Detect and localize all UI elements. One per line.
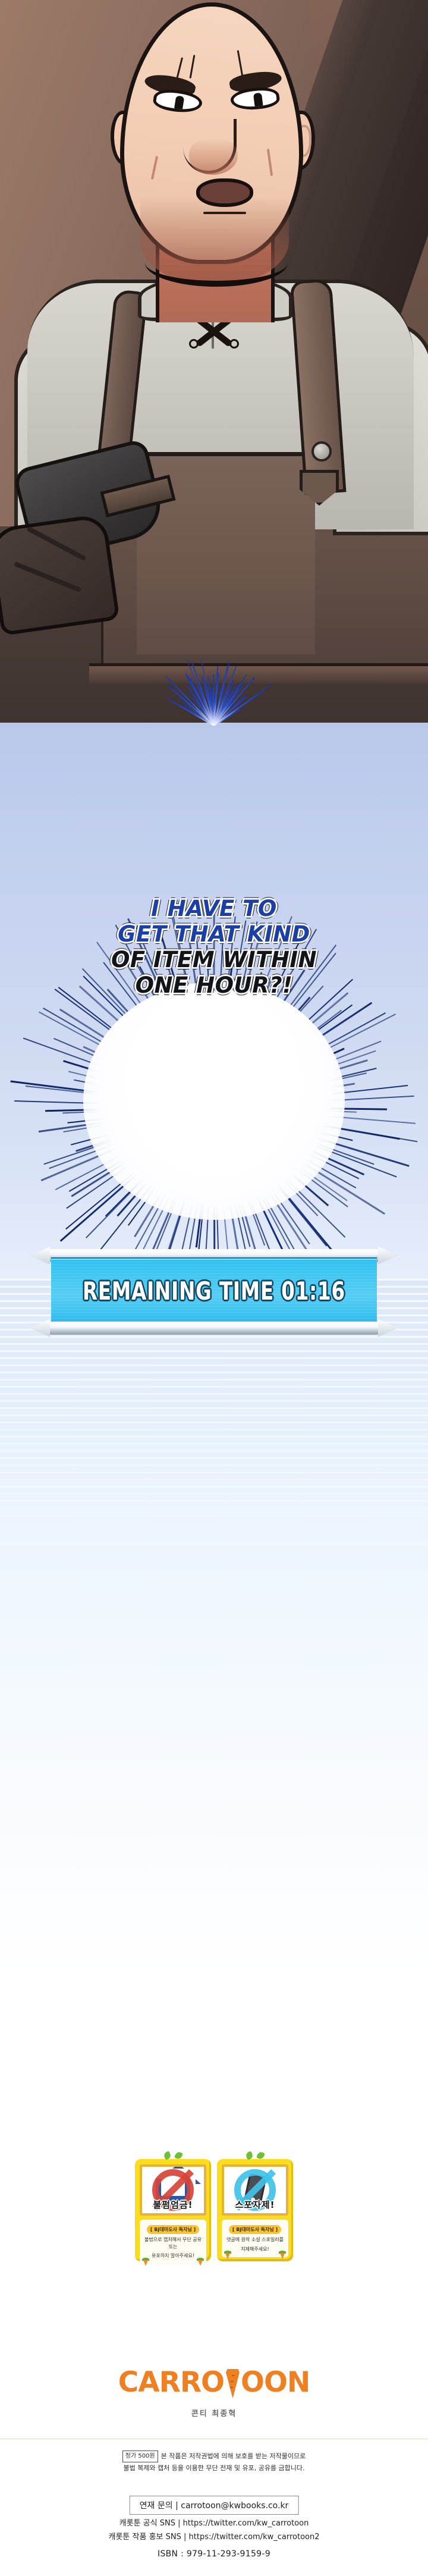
burst-core-glow — [83, 982, 345, 1220]
notice-line-1: 불법으로 캡처해서 무단 공유 또는 — [143, 2236, 203, 2250]
carrot-icon — [279, 2251, 286, 2259]
notice-text-block: [ BJ대마도사 독자님 ] 댓글에 원작 소설 스포일러를 지제해주세요! — [222, 2220, 288, 2257]
notice-line-2: 지제해주세요! — [225, 2246, 285, 2253]
notice-tag: [ BJ대마도사 독자님 ] — [147, 2225, 199, 2234]
panel-remaining-time — [0, 1279, 428, 2040]
panel-shock-burst — [0, 723, 428, 1279]
banner-arrow-left-icon — [30, 1319, 50, 1337]
panel-blacksmith-closeup — [0, 0, 428, 723]
price-badge: 정가 500원 — [122, 2451, 158, 2462]
logo-suffix: OON — [241, 2366, 310, 2399]
sns-official-link[interactable]: 캐롯툰 공식 SNS | https://twitter.com/kw_carr… — [109, 2517, 320, 2531]
copyright-line-1: 본 작품은 저작권법에 의해 보호를 받는 저작물이므로 — [161, 2452, 306, 2460]
speech-line: OF ITEM WITHIN — [48, 947, 380, 973]
isbn-label: ISBN : 979-11-293-9159-9 — [158, 2549, 270, 2559]
carrotoon-logo: CARRO OON 콘티 최종혁 — [118, 2366, 310, 2418]
storyboard-credit: 콘티 최종혁 — [118, 2407, 310, 2418]
notice-card-no-copy: 불펌엄금! [ BJ대마도사 독자님 ] 불법으로 캡처해서 무단 공유 또는 … — [135, 2159, 211, 2261]
notice-card-no-spoiler: 스포자제! [ BJ대마도사 독자님 ] 댓글에 원작 소설 스포일러를 지제해… — [217, 2159, 293, 2261]
right-pupil — [253, 93, 263, 109]
banner-arrow-right-icon — [378, 1319, 398, 1337]
notice-tag: [ BJ대마도사 독자님 ] — [229, 2225, 281, 2234]
sns-links: 캐롯툰 공식 SNS | https://twitter.com/kw_carr… — [109, 2517, 320, 2544]
contact-box[interactable]: 연재 문의 | carrotoon@kwbooks.co.kr — [130, 2496, 299, 2515]
notice-cards: 불펌엄금! [ BJ대마도사 독자님 ] 불법으로 캡처해서 무단 공유 또는 … — [135, 2159, 293, 2261]
banner-arrow-right-icon — [378, 1247, 398, 1265]
carrot-sprout-icon — [246, 2152, 264, 2161]
carrot-icon — [224, 2251, 231, 2259]
sns-promo-link[interactable]: 캐롯툰 작품 홍보 SNS | https://twitter.com/kw_c… — [109, 2531, 320, 2544]
speech-line: I HAVE TO — [48, 896, 380, 922]
copyright-notice: 정가 500원본 작품은 저작권법에 의해 보호를 받는 저작물이므로 불법 복… — [18, 2451, 410, 2474]
notice-line-2: 유포하지 말아주세요! — [143, 2252, 203, 2260]
carrot-icon — [197, 2258, 204, 2266]
logo-text: CARRO OON — [118, 2366, 310, 2399]
impact-spark — [119, 648, 309, 726]
no-spoiler-phone-icon: 스포자제! — [222, 2164, 288, 2216]
copyright-line-2: 불법 복제와 캡처 등을 이용한 무단 전재 및 유포, 공유를 금합니다. — [18, 2462, 410, 2474]
chin-outline — [145, 239, 288, 287]
remaining-time-banner: REMAINING TIME 01:16 — [0, 1244, 428, 1345]
no-copy-icon: 불펌엄금! — [140, 2164, 206, 2216]
speech-balloon-text: I HAVE TO GET THAT KIND OF ITEM WITHIN O… — [48, 896, 380, 999]
banner-rail-bottom — [46, 1322, 382, 1335]
carrot-sprout-icon — [164, 2152, 182, 2161]
webtoon-page: I HAVE TO GET THAT KIND OF ITEM WITHIN O… — [0, 0, 428, 2576]
notice-image-label: 스포자제! — [224, 2198, 286, 2211]
lower-lip-line — [203, 212, 246, 214]
carrot-icon — [224, 2367, 241, 2399]
logo-prefix: CARRO — [118, 2366, 224, 2399]
carrot-icon — [142, 2258, 149, 2266]
gloved-hand — [0, 513, 120, 636]
apron-rivet — [311, 441, 332, 462]
banner-arrow-left-icon — [30, 1247, 50, 1265]
speech-line: GET THAT KIND — [48, 922, 380, 947]
notice-text-block: [ BJ대마도사 독자님 ] 불법으로 캡처해서 무단 공유 또는 유포하지 말… — [140, 2220, 206, 2264]
notice-line-1: 댓글에 원작 소설 스포일러를 — [225, 2236, 285, 2244]
speech-line: ONE HOUR?! — [48, 973, 380, 999]
remaining-time-label: REMAINING TIME 01:16 — [83, 1276, 345, 1306]
banner-body: REMAINING TIME 01:16 — [51, 1257, 377, 1324]
footer-divider — [0, 2439, 428, 2439]
left-pupil — [174, 95, 184, 112]
notice-image-label: 불펌엄금! — [142, 2198, 204, 2211]
open-mouth — [196, 178, 253, 207]
